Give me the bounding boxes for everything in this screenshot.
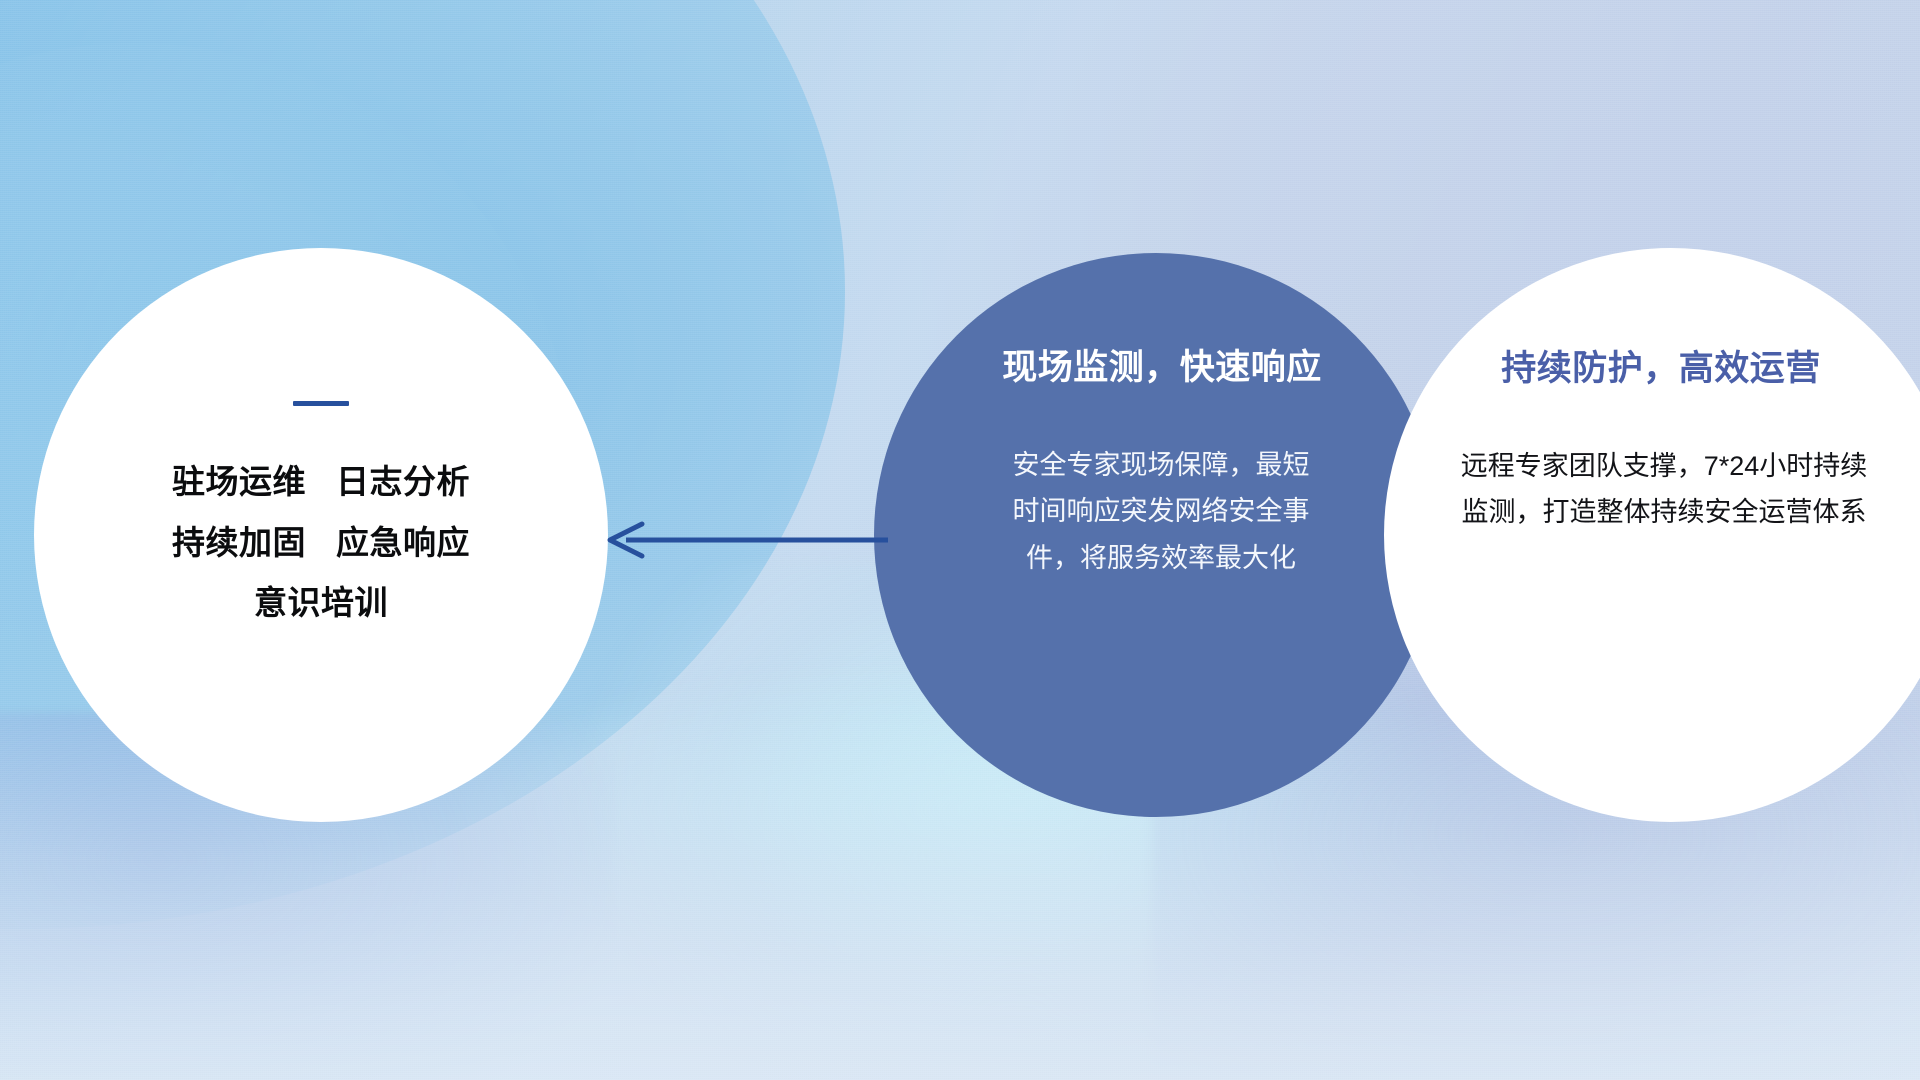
- capability-tag-row: 意识培训: [172, 573, 470, 634]
- capability-tag: 驻场运维: [172, 463, 306, 500]
- divider-dash: [293, 401, 349, 406]
- capability-tag: 意识培训: [254, 584, 388, 621]
- node-onsite-monitoring-content: 现场监测，快速响应 安全专家现场保障，最短时间响应突发网络安全事件，将服务效率最…: [874, 253, 1438, 817]
- capability-tag-row: 驻场运维日志分析: [172, 452, 470, 513]
- capability-tag-row: 持续加固应急响应: [172, 513, 470, 574]
- node-continuous-protection-body: 远程专家团队支撑，7*24小时持续监测，打造整体持续安全运营体系: [1452, 443, 1876, 536]
- capability-tag: 日志分析: [336, 463, 470, 500]
- capability-tag-list: 驻场运维日志分析 持续加固应急响应 意识培训: [172, 452, 470, 634]
- connector-arrow-icon: [600, 512, 890, 568]
- node-onsite-monitoring-body: 安全专家现场保障，最短时间响应突发网络安全事件，将服务效率最大化: [1011, 442, 1311, 581]
- node-onsite-monitoring-heading: 现场监测，快速响应: [1002, 339, 1322, 390]
- capability-tag: 持续加固: [172, 524, 306, 561]
- diagram-canvas: 驻场运维日志分析 持续加固应急响应 意识培训 现场监测，快速响应 安全专家现场保…: [0, 0, 1920, 1080]
- node-capabilities-content: 驻场运维日志分析 持续加固应急响应 意识培训: [34, 248, 608, 822]
- node-continuous-protection-heading: 持续防护，高效运营: [1501, 340, 1821, 391]
- capability-tag: 应急响应: [336, 524, 470, 561]
- node-continuous-protection-content: 持续防护，高效运营 远程专家团队支撑，7*24小时持续监测，打造整体持续安全运营…: [1384, 248, 1920, 822]
